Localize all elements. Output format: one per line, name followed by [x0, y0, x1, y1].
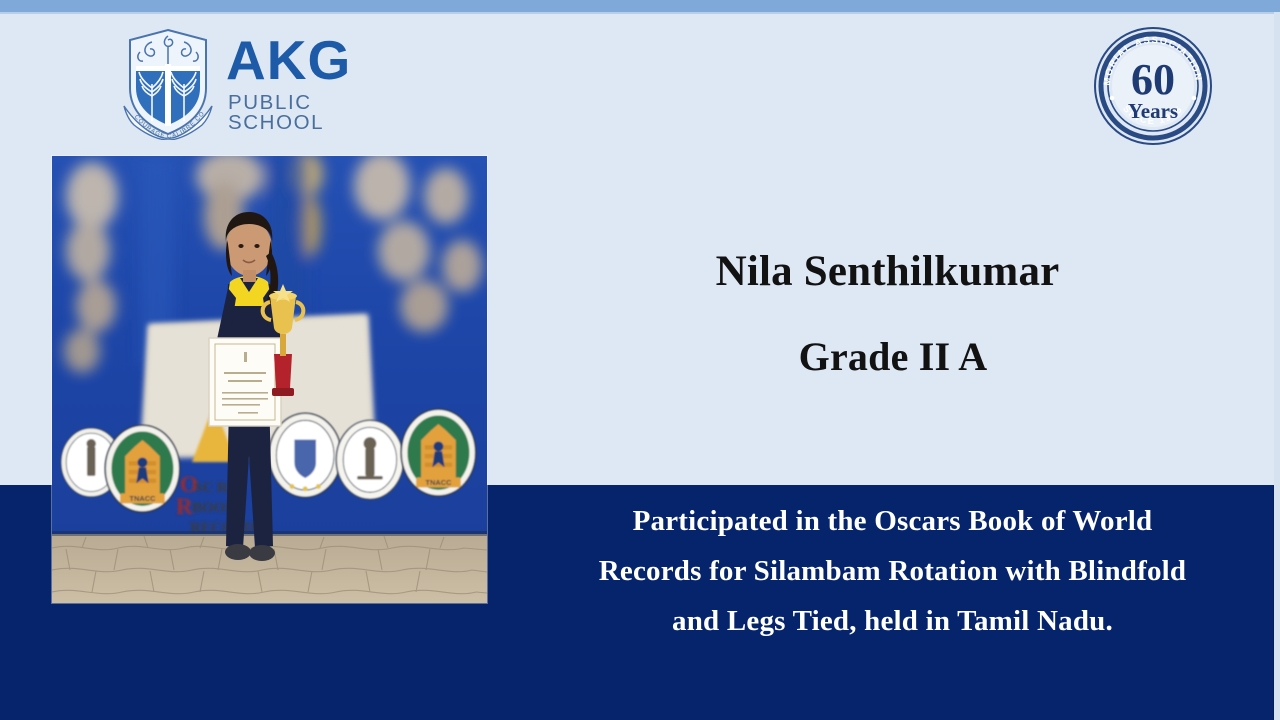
- school-crest-icon: COURAGE CALIBRE COMPASSION: [118, 26, 218, 140]
- top-accent-strip: [0, 0, 1280, 12]
- achievement-slide: COURAGE CALIBRE COMPASSION AKG PUBLIC SC…: [0, 0, 1280, 720]
- akg-subtitle: PUBLIC SCHOOL: [228, 93, 388, 134]
- akg-public-school-logo: COURAGE CALIBRE COMPASSION AKG PUBLIC SC…: [118, 24, 388, 142]
- akg-word: AKG: [226, 33, 388, 88]
- student-info-block: Nila Senthilkumar Grade II A: [520, 248, 1240, 428]
- akg-wordmark: AKG PUBLIC SCHOOL: [226, 33, 388, 134]
- svg-text:R: R: [176, 494, 193, 519]
- caption-line-3: and Legs Tied, held in Tamil Nadu.: [520, 597, 1265, 647]
- svg-text:TNACC: TNACC: [129, 494, 156, 503]
- student-award-photo: TNACC O SC RS R BOOK RECORDS: [52, 156, 487, 603]
- right-page-margin: [1274, 12, 1280, 720]
- student-name: Nila Senthilkumar: [535, 248, 1240, 295]
- achievement-caption: Participated in the Oscars Book of World…: [520, 497, 1265, 647]
- svg-text:Years: Years: [1128, 99, 1178, 123]
- 60-years-badge: ASAN MEMORIAL ASSOCIATION CHENNAI SINCE …: [1085, 24, 1221, 148]
- svg-text:TNACC: TNACC: [425, 478, 452, 487]
- caption-line-2: Records for Silambam Rotation with Blind…: [520, 547, 1265, 597]
- student-grade: Grade II A: [546, 335, 1240, 379]
- caption-line-1: Participated in the Oscars Book of World: [520, 497, 1265, 547]
- svg-text:60: 60: [1131, 55, 1175, 104]
